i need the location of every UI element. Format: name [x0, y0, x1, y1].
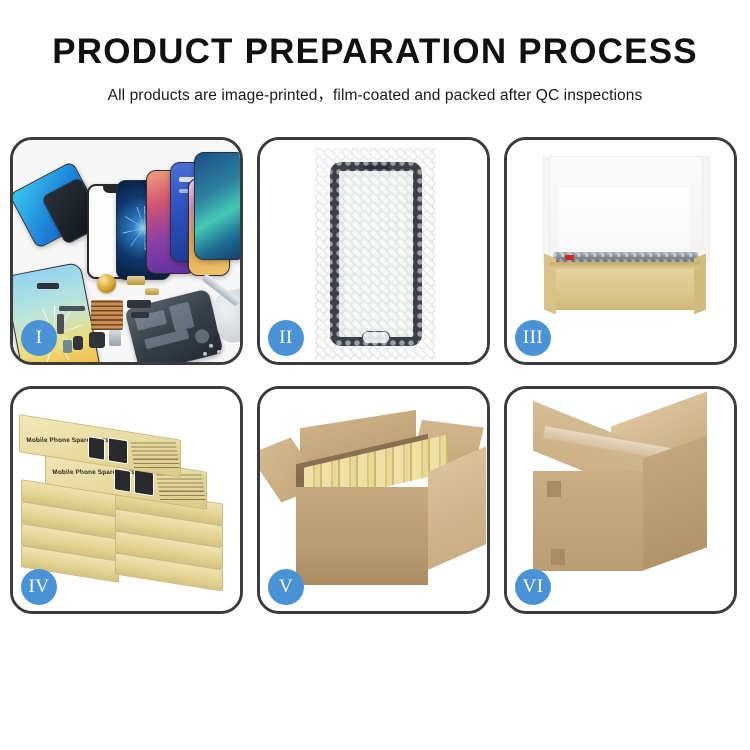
component-gold-flex-2-icon	[145, 288, 159, 295]
component-bar-1-icon	[37, 283, 59, 289]
box-product-image-1a	[88, 436, 105, 461]
component-flex-cable-2-icon	[57, 314, 64, 334]
step-badge-5: V	[268, 569, 304, 605]
component-gold-flex-icon	[127, 276, 145, 285]
page-header: PRODUCT PREPARATION PROCESS All products…	[0, 0, 750, 105]
box-product-image-2a	[114, 468, 131, 493]
box-stack-icon: Mobile Phone Spare Parts Mobile Phone Sp…	[19, 409, 240, 599]
process-step-panel-6[interactable]: VI	[504, 386, 737, 614]
component-speaker-icon	[89, 332, 105, 348]
component-connector-icon	[127, 300, 151, 308]
backplate-camera-icon	[194, 328, 211, 345]
carton-handle-tab-top-icon	[547, 481, 561, 497]
process-step-panel-5[interactable]: V	[257, 386, 490, 614]
screw-1-icon	[209, 344, 213, 348]
box-product-image-1b	[108, 437, 128, 464]
sealed-carton-side-icon	[643, 435, 707, 570]
screw-2-icon	[217, 350, 221, 354]
process-step-panel-4[interactable]: Mobile Phone Spare Parts Mobile Phone Sp…	[10, 386, 243, 614]
step-badge-2: II	[268, 320, 304, 356]
backplate-part-c-icon	[144, 329, 189, 349]
step-badge-1: I	[21, 320, 57, 356]
backplate-part-b-icon	[169, 302, 195, 332]
copper-mesh-icon	[91, 300, 123, 330]
phone-teal-wave-icon	[194, 152, 240, 260]
component-camera-module-icon	[109, 330, 121, 346]
component-connector-2-icon	[131, 312, 149, 318]
earpiece-slot-icon	[363, 165, 389, 169]
box-product-image-2b	[134, 469, 154, 496]
carton-front-panel-icon	[296, 487, 428, 585]
box-spec-lines-1	[130, 443, 180, 469]
process-step-panel-3[interactable]: III	[504, 137, 737, 365]
component-sim-tray-icon	[63, 340, 72, 353]
page-subtitle: All products are image-printed，film-coat…	[0, 83, 750, 105]
phone-front-glass-icon	[330, 162, 422, 346]
box-spec-lines-2	[156, 475, 206, 501]
component-flex-cable-icon	[59, 306, 85, 311]
step-badge-6: VI	[515, 569, 551, 605]
gold-coil-icon	[97, 274, 116, 293]
process-panel-grid: I II	[10, 137, 743, 614]
process-step-panel-2[interactable]: II	[257, 137, 490, 365]
step-badge-3: III	[515, 320, 551, 356]
sealed-carton-front-icon	[533, 471, 643, 571]
step-badge-4: IV	[21, 569, 57, 605]
kraft-box-base-icon	[547, 262, 703, 310]
home-button-icon	[362, 331, 390, 344]
page-title: PRODUCT PREPARATION PROCESS	[0, 34, 750, 71]
screw-3-icon	[203, 352, 207, 356]
process-step-panel-1[interactable]: I	[10, 137, 243, 365]
red-label-icon	[565, 255, 574, 260]
component-button-icon	[73, 336, 83, 350]
carton-handle-tab-bottom-icon	[551, 549, 565, 565]
kraft-box-inner-lip-icon	[550, 262, 700, 269]
